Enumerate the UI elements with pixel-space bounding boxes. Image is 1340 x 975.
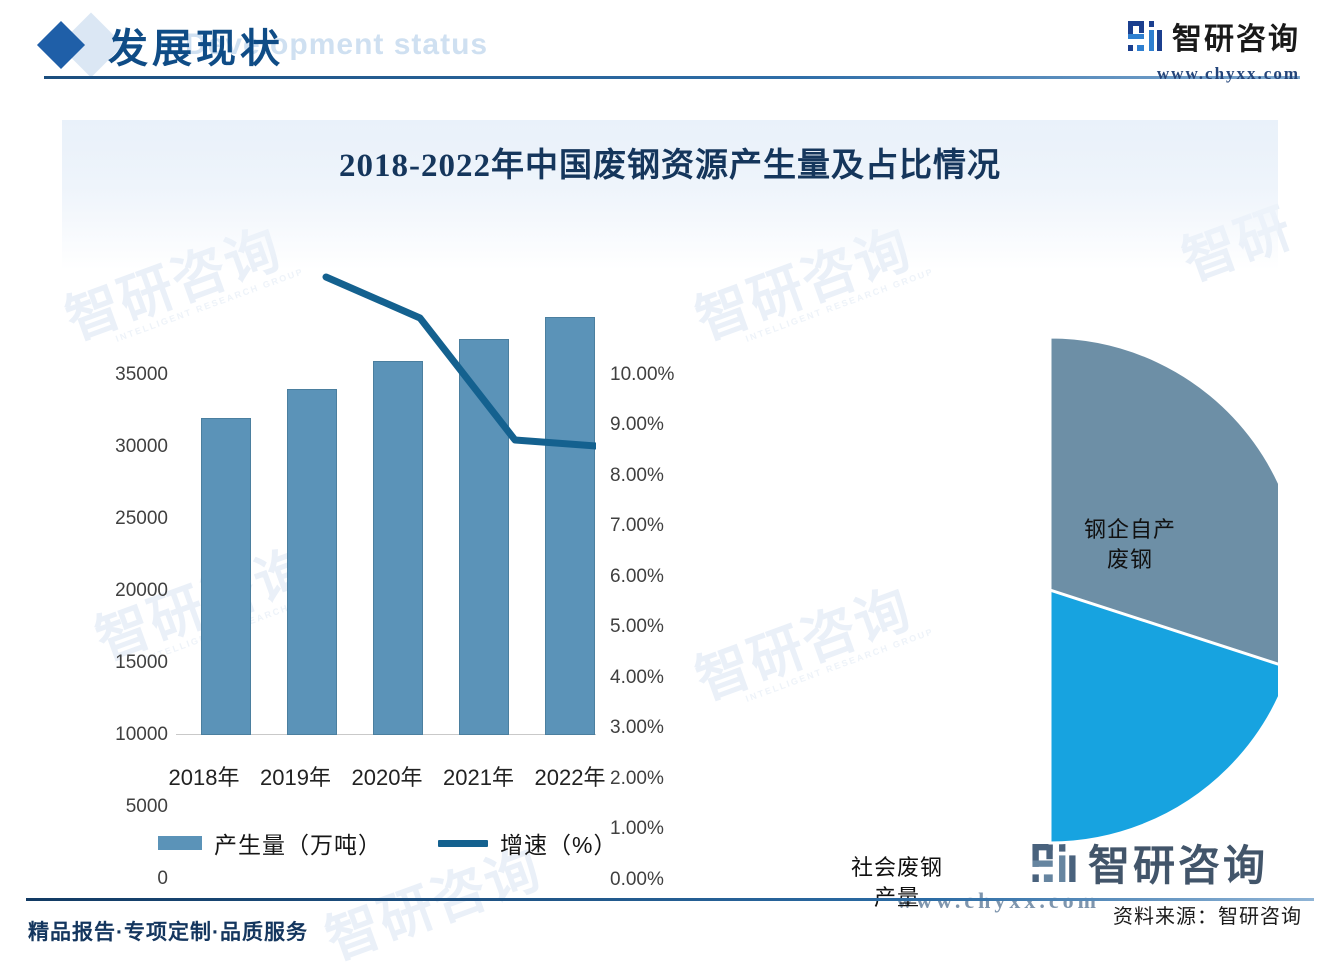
footer-tagline: 精品报告·专项定制·品质服务 bbox=[28, 916, 308, 946]
y2-tick: 3.00% bbox=[610, 717, 664, 739]
page-header: Development status 发展现状 智研咨询 www.chyxx.c bbox=[0, 0, 1340, 100]
y2-tick: 10.00% bbox=[610, 364, 674, 386]
y2-tick: 5.00% bbox=[610, 616, 664, 638]
brand-block: 智研咨询 www.chyxx.com bbox=[1128, 14, 1300, 84]
y-tick: 10000 bbox=[115, 724, 168, 746]
header-divider bbox=[44, 76, 1300, 79]
y2-tick: 2.00% bbox=[610, 768, 664, 790]
brand-url: www.chyxx.com bbox=[1128, 64, 1300, 84]
legend-label: 产生量（万吨） bbox=[214, 826, 382, 860]
legend-swatch-line-icon bbox=[438, 840, 488, 847]
y2-tick: 9.00% bbox=[610, 414, 664, 436]
y-axis-right: 10.00% 9.00% 8.00% 7.00% 6.00% 5.00% 4.0… bbox=[602, 230, 712, 890]
legend-item-growth[interactable]: 增速（%） bbox=[438, 826, 617, 860]
y2-tick: 0.00% bbox=[610, 869, 664, 891]
chyxx-logo-icon bbox=[1128, 21, 1162, 51]
y-tick: 0 bbox=[157, 868, 168, 890]
combo-chart: 35000 30000 25000 20000 15000 10000 5000… bbox=[62, 230, 702, 890]
x-tick-label: 2019年 bbox=[254, 760, 338, 792]
y-axis-left: 35000 30000 25000 20000 15000 10000 5000… bbox=[62, 230, 168, 890]
source-note: 资料来源：智研咨询 bbox=[1113, 900, 1302, 929]
pie-label-mill-scrap: 钢企自产 废钢 bbox=[1060, 515, 1200, 576]
x-axis-labels: 2018年 2019年 2020年 2021年 2022年 bbox=[162, 760, 612, 792]
y-tick: 30000 bbox=[115, 436, 168, 458]
legend-swatch-bar-icon bbox=[158, 836, 202, 850]
y-tick: 20000 bbox=[115, 580, 168, 602]
brand-name: 智研咨询 bbox=[1172, 14, 1300, 58]
y2-tick: 8.00% bbox=[610, 465, 664, 487]
page-title: 发展现状 bbox=[108, 16, 284, 74]
pie-label-social-scrap: 社会废钢 产量 bbox=[822, 853, 972, 914]
chart-legend: 产生量（万吨） 增速（%） bbox=[158, 826, 617, 860]
y-tick: 5000 bbox=[126, 796, 168, 818]
footer-divider bbox=[26, 898, 1314, 901]
y2-tick: 4.00% bbox=[610, 667, 664, 689]
y-tick: 15000 bbox=[115, 652, 168, 674]
chart-card: 2018-2022年中国废钢资源产生量及占比情况 35000 30000 250… bbox=[62, 120, 1278, 890]
chart-title: 2018-2022年中国废钢资源产生量及占比情况 bbox=[62, 138, 1278, 186]
y2-tick: 7.00% bbox=[610, 515, 664, 537]
y-tick: 25000 bbox=[115, 508, 168, 530]
y2-tick: 1.00% bbox=[610, 818, 664, 840]
legend-item-production[interactable]: 产生量（万吨） bbox=[158, 826, 382, 860]
x-tick-label: 2021年 bbox=[437, 760, 521, 792]
x-tick-label: 2018年 bbox=[162, 760, 246, 792]
x-tick-label: 2022年 bbox=[528, 760, 612, 792]
legend-label: 增速（%） bbox=[500, 826, 617, 860]
y-tick: 35000 bbox=[115, 364, 168, 386]
y2-tick: 6.00% bbox=[610, 566, 664, 588]
pie-chart: 钢企自产 废钢 社会废钢 产量 bbox=[702, 250, 1278, 890]
x-tick-label: 2020年 bbox=[345, 760, 429, 792]
